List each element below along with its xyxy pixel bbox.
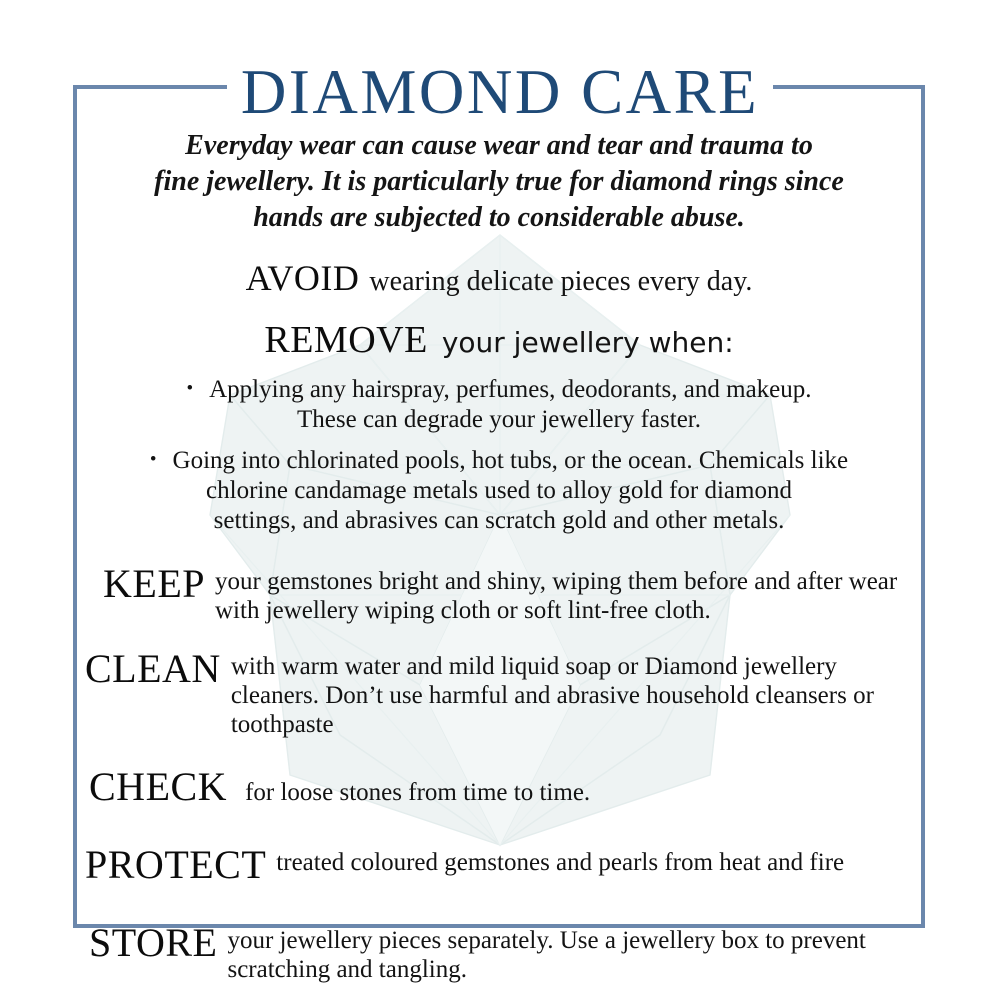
intro-line-1: Everyday wear can cause wear and tear an… [91, 128, 907, 164]
bullet-2-line-1: Going into chlorinated pools, hot tubs, … [173, 447, 849, 474]
intro-line-3: hands are subjected to considerable abus… [91, 200, 907, 236]
intro-paragraph: Everyday wear can cause wear and tear an… [77, 128, 921, 236]
page-title: DIAMOND CARE [0, 58, 1000, 126]
clean-keyword: CLEAN [85, 647, 221, 691]
list-item: •Going into chlorinated pools, hot tubs,… [77, 445, 921, 536]
remove-row: REMOVEyour jewellery when: [77, 320, 921, 360]
diamond-care-infographic: DIAMOND CARE Everyday wear can cause wea… [0, 0, 1000, 1000]
list-item: •Applying any hairspray, perfumes, deodo… [77, 374, 921, 435]
check-keyword: CHECK [89, 765, 227, 809]
content-body: Everyday wear can cause wear and tear an… [77, 120, 921, 984]
section-keep: KEEP your gemstones bright and shiny, wi… [77, 562, 921, 625]
protect-keyword: PROTECT [85, 843, 266, 887]
bullet-1-line-1: Applying any hairspray, perfumes, deodor… [209, 376, 811, 403]
clean-text: with warm water and mild liquid soap or … [221, 647, 921, 739]
remove-keyword: REMOVE [264, 319, 427, 361]
frame-border-right [921, 85, 925, 928]
page-title-text: DIAMOND CARE [227, 58, 773, 126]
avoid-keyword: AVOID [246, 258, 360, 298]
bullet-dot-icon: • [186, 378, 209, 399]
protect-text: treated coloured gemstones and pearls fr… [266, 843, 921, 877]
keep-text: your gemstones bright and shiny, wiping … [205, 562, 921, 625]
section-store: STORE your jewellery pieces separately. … [77, 921, 921, 984]
section-protect: PROTECT treated coloured gemstones and p… [77, 843, 921, 887]
remove-bullet-list: •Applying any hairspray, perfumes, deodo… [77, 374, 921, 536]
intro-line-2: fine jewellery. It is particularly true … [91, 164, 907, 200]
store-text: your jewellery pieces separately. Use a … [217, 921, 921, 984]
avoid-row: AVOIDwearing delicate pieces every day. [77, 258, 921, 298]
keep-keyword: KEEP [103, 562, 205, 606]
section-clean: CLEAN with warm water and mild liquid so… [77, 647, 921, 739]
section-check: CHECK for loose stones from time to time… [77, 765, 921, 809]
bullet-1-line-2: These can degrade your jewellery faster. [83, 405, 915, 435]
bullet-2-line-3: settings, and abrasives can scratch gold… [83, 506, 915, 536]
bullet-2-line-2: chlorine candamage metals used to alloy … [83, 476, 915, 506]
avoid-text: wearing delicate pieces every day. [359, 266, 752, 297]
store-keyword: STORE [89, 921, 217, 965]
remove-text: your jewellery when: [428, 326, 734, 359]
bullet-dot-icon: • [150, 449, 173, 470]
check-text: for loose stones from time to time. [227, 765, 921, 807]
